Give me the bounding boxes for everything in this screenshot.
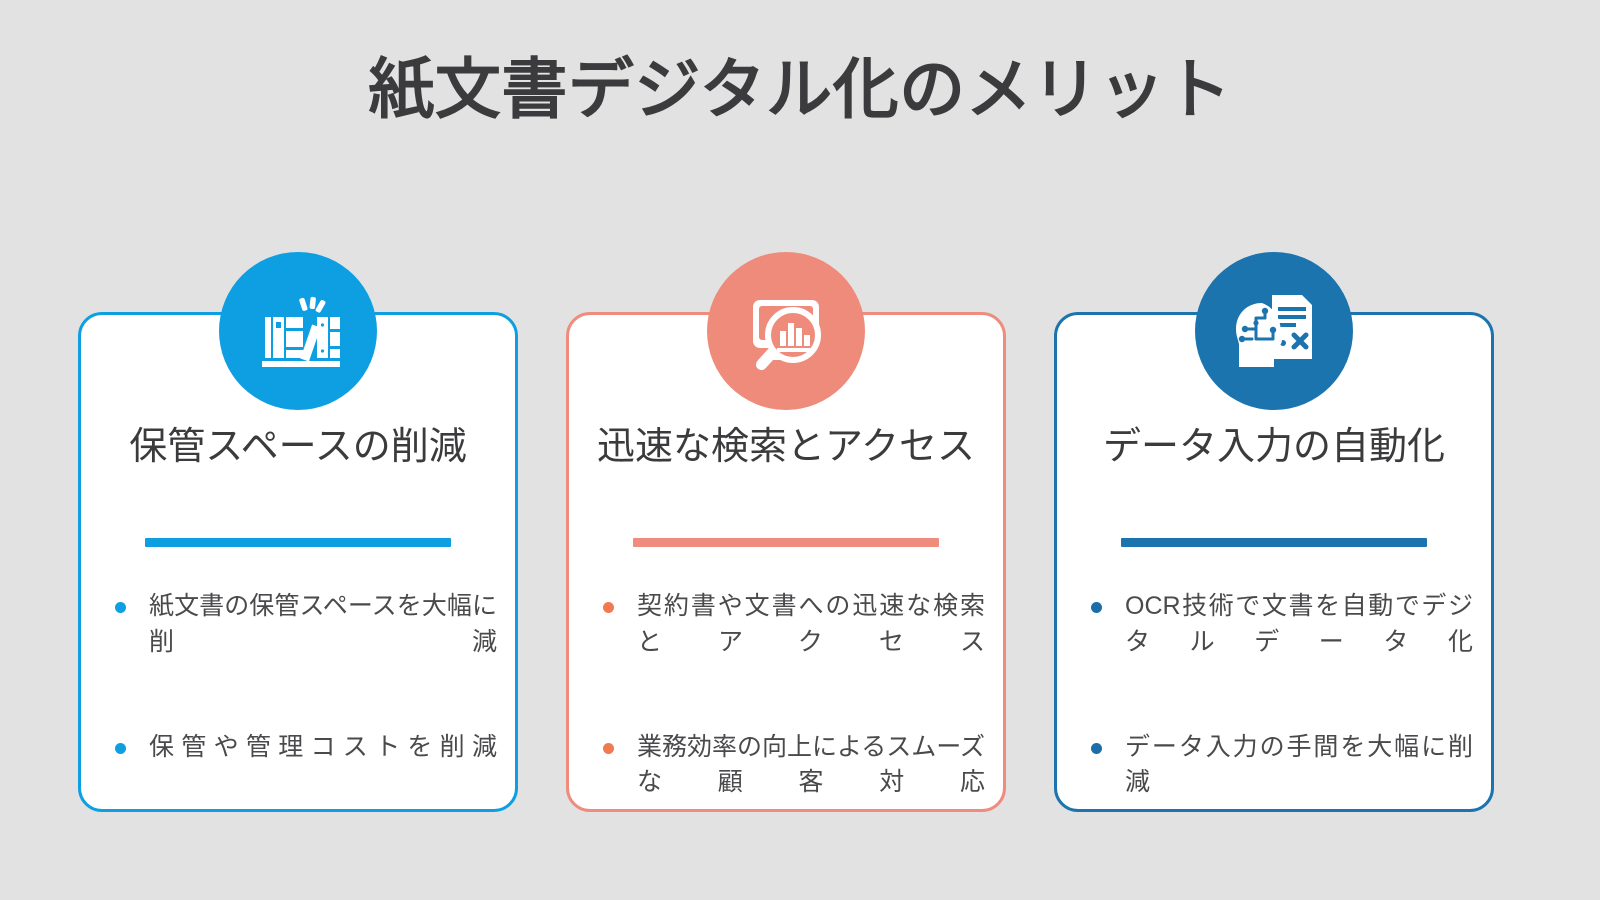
card-title: 迅速な検索とアクセス xyxy=(581,425,991,471)
card-bullet-list: OCR技術で文書を自動でデジタルデータ化 データ入力の手間を大幅に削減 xyxy=(1083,589,1473,836)
card-bullet-list: 契約書や文書への迅速な検索とアクセス 業務効率の向上によるスムーズな顧客対応 xyxy=(595,589,985,836)
bullet-dot-icon xyxy=(603,743,614,754)
card-title: データ入力の自動化 xyxy=(1069,425,1479,471)
card-divider xyxy=(633,538,939,547)
benefit-card-fast-search-access[interactable]: 迅速な検索とアクセス 契約書や文書への迅速な検索とアクセス 業務効率の向上による… xyxy=(566,312,1006,812)
bullet-text: 紙文書の保管スペースを大幅に削減 xyxy=(149,589,497,696)
card-divider xyxy=(1121,538,1427,547)
bullet-dot-icon xyxy=(115,602,126,613)
bullet-text: データ入力の手間を大幅に削減 xyxy=(1125,730,1473,837)
bullet-dot-icon xyxy=(603,602,614,613)
ai-brain-document-icon xyxy=(1195,252,1353,410)
list-item: 保管や管理コストを削減 xyxy=(107,730,497,801)
card-divider xyxy=(145,538,451,547)
bullet-dot-icon xyxy=(115,743,126,754)
slide-root: 紙文書デジタル化のメリット xyxy=(0,0,1600,900)
benefit-card-storage-reduction[interactable]: 保管スペースの削減 紙文書の保管スペースを大幅に削減 保管や管理コストを削減 xyxy=(78,312,518,812)
bullet-text: 業務効率の向上によるスムーズな顧客対応 xyxy=(637,730,985,837)
bookshelf-icon xyxy=(219,252,377,410)
page-title: 紙文書デジタル化のメリット xyxy=(0,52,1600,128)
card-bullet-list: 紙文書の保管スペースを大幅に削減 保管や管理コストを削減 xyxy=(107,589,497,801)
list-item: OCR技術で文書を自動でデジタルデータ化 xyxy=(1083,589,1473,696)
list-item: 契約書や文書への迅速な検索とアクセス xyxy=(595,589,985,696)
list-item: データ入力の手間を大幅に削減 xyxy=(1083,730,1473,837)
bullet-dot-icon xyxy=(1091,743,1102,754)
bullet-text: 保管や管理コストを削減 xyxy=(149,730,497,801)
bullet-text: 契約書や文書への迅速な検索とアクセス xyxy=(637,589,985,696)
benefit-cards-row: 保管スペースの削減 紙文書の保管スペースを大幅に削減 保管や管理コストを削減 xyxy=(0,312,1600,822)
benefit-card-data-entry-automation[interactable]: データ入力の自動化 OCR技術で文書を自動でデジタルデータ化 データ入力の手間を… xyxy=(1054,312,1494,812)
monitor-chart-magnifier-icon xyxy=(707,252,865,410)
list-item: 業務効率の向上によるスムーズな顧客対応 xyxy=(595,730,985,837)
bullet-text: OCR技術で文書を自動でデジタルデータ化 xyxy=(1125,589,1473,696)
bullet-dot-icon xyxy=(1091,602,1102,613)
card-title: 保管スペースの削減 xyxy=(93,425,503,471)
list-item: 紙文書の保管スペースを大幅に削減 xyxy=(107,589,497,696)
